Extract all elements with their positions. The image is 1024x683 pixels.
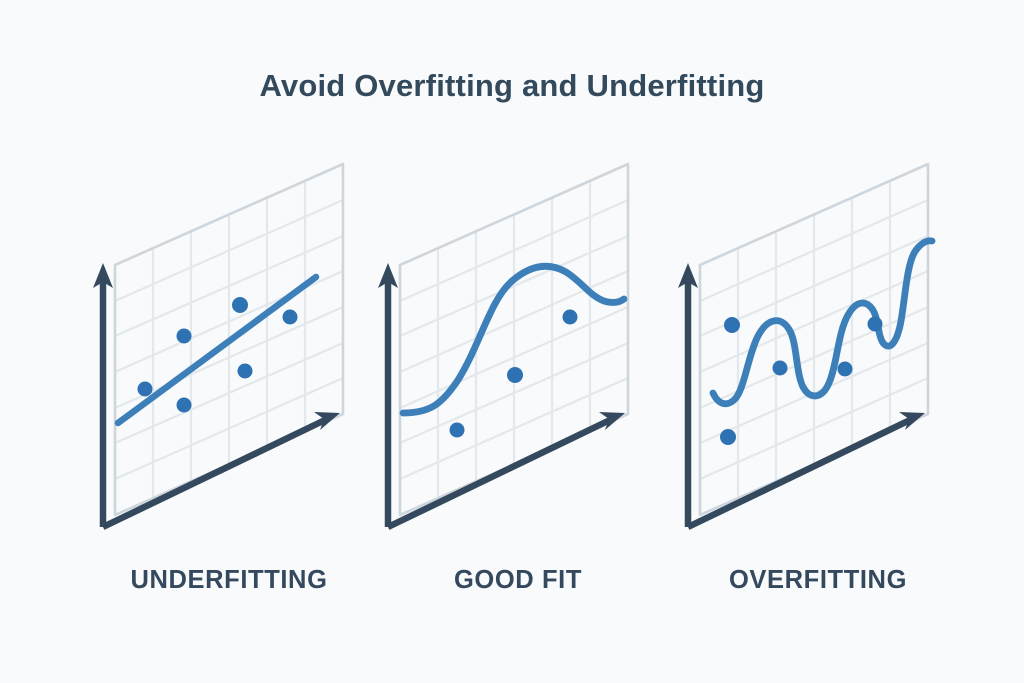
data-point — [507, 367, 523, 383]
overfitting-underfitting-diagram: Avoid Overfitting and Underfitting — [0, 0, 1024, 683]
page-title: Avoid Overfitting and Underfitting — [259, 68, 764, 103]
data-point — [868, 317, 883, 332]
data-point — [450, 423, 465, 438]
data-point — [138, 382, 153, 397]
data-point — [720, 429, 736, 445]
data-point — [838, 362, 853, 377]
data-point — [232, 297, 248, 313]
data-point — [283, 310, 298, 325]
data-point — [563, 310, 578, 325]
data-point — [238, 364, 253, 379]
data-point — [177, 329, 192, 344]
panel-label-overfitting: OVERFITTING — [729, 566, 907, 594]
panel-label-good-fit: GOOD FIT — [454, 566, 582, 594]
panel-label-underfitting: UNDERFITTING — [130, 566, 327, 594]
data-point — [177, 398, 192, 413]
data-point — [773, 361, 788, 376]
data-point — [724, 317, 740, 333]
